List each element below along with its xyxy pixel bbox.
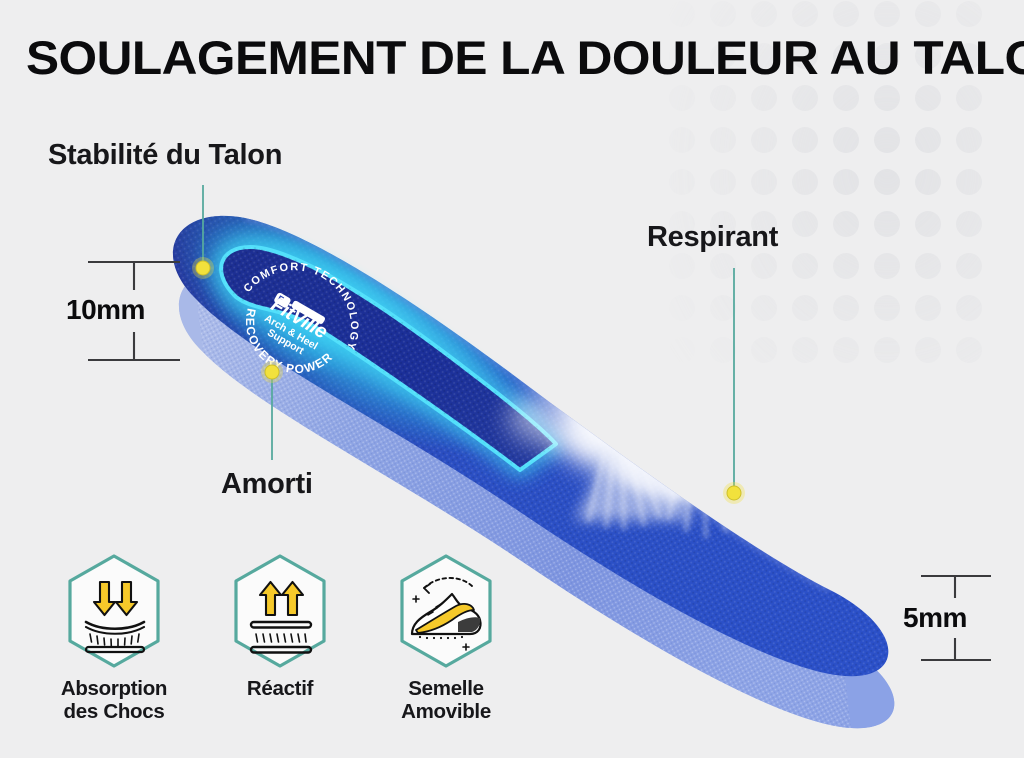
callout-dots <box>192 257 745 504</box>
insole-heel-cup <box>221 247 556 470</box>
svg-text:F: F <box>276 293 286 305</box>
dimension-toe-thickness: 5mm <box>903 570 1024 666</box>
dimension-heel-value: 10mm <box>66 294 145 325</box>
feature-label-removable-insole: Semelle Amovible <box>401 678 491 724</box>
dimension-heel-thickness: 10mm <box>62 256 252 366</box>
callout-label-respirant: Respirant <box>647 221 778 254</box>
feature-shock-absorption[interactable]: Absorption des Chocs <box>34 552 194 742</box>
badge-line-1: Arch & Heel <box>262 312 320 352</box>
feature-list: Absorption des Chocs Réactif <box>34 552 554 742</box>
up-arrows-spring-icon <box>228 552 332 670</box>
brand-mark: F <box>273 291 326 328</box>
badge-line-2: Support <box>265 327 306 358</box>
page-title: SOULAGEMENT DE LA DOULEUR AU TALON <box>26 34 1024 82</box>
vapor-effect <box>508 370 796 538</box>
down-arrows-cushion-icon <box>62 552 166 670</box>
feature-removable-insole[interactable]: Semelle Amovible <box>366 552 526 742</box>
shoe-removable-insole-icon <box>394 552 498 670</box>
dimension-toe-value: 5mm <box>903 602 967 633</box>
feature-label-responsive: Réactif <box>247 678 313 701</box>
brand-name: FitVille <box>267 294 331 344</box>
feature-responsive[interactable]: Réactif <box>200 552 360 742</box>
badge-top-arc-text: COMFORT TECHNOLOGY <box>240 237 384 354</box>
callout-label-stabilite: Stabilité du Talon <box>48 139 282 172</box>
feature-label-shock-absorption: Absorption des Chocs <box>61 678 167 724</box>
callout-label-amorti: Amorti <box>221 468 313 501</box>
